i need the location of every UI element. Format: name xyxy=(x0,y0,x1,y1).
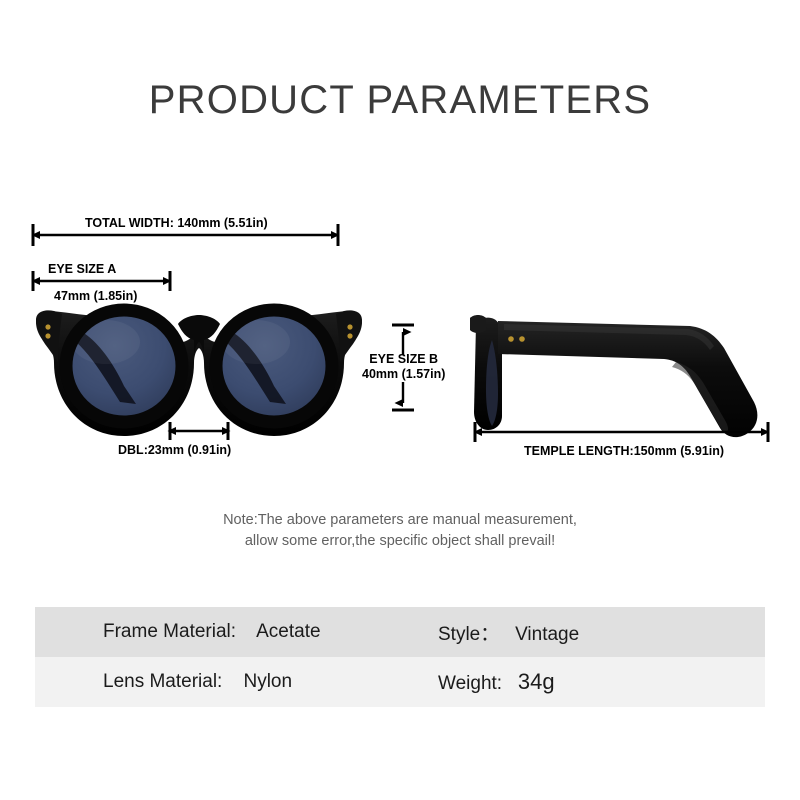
product-parameters-page: PRODUCT PARAMETERS xyxy=(0,0,800,800)
rivet-icon xyxy=(508,336,514,342)
frame-material-key: Frame Material: xyxy=(103,621,236,642)
lens-material-key: Lens Material: xyxy=(103,671,222,692)
measurement-note: Note:The above parameters are manual mea… xyxy=(0,510,800,552)
rivet-icon xyxy=(347,333,352,338)
temple-length-label: TEMPLE LENGTH:150mm (5.91in) xyxy=(524,444,724,458)
table-row: Lens Material: Nylon Weight: 34g xyxy=(35,657,765,707)
rivet-icon xyxy=(347,324,352,329)
style-key: Style： xyxy=(438,624,499,645)
eye-size-b-value: 40mm (1.57in) xyxy=(362,367,445,382)
weight-value: 34g xyxy=(518,669,555,694)
lens-material-cell: Lens Material: Nylon xyxy=(35,657,400,707)
eye-size-a-label: EYE SIZE A xyxy=(48,262,116,276)
eye-size-a-value: 47mm (1.85in) xyxy=(54,289,137,303)
weight-key: Weight: xyxy=(438,673,502,694)
eye-size-b-label: EYE SIZE B xyxy=(362,352,445,367)
rivet-icon xyxy=(45,324,50,329)
style-cell: Style： Vintage xyxy=(400,607,765,657)
rivet-icon xyxy=(519,336,525,342)
page-title: PRODUCT PARAMETERS xyxy=(0,78,800,123)
note-line-2: allow some error,the specific object sha… xyxy=(0,531,800,552)
rivet-icon xyxy=(45,333,50,338)
dbl-label: DBL:23mm (0.91in) xyxy=(118,443,231,457)
sunglasses-side-view xyxy=(470,315,757,437)
specification-table: Frame Material: Acetate Style： Vintage L… xyxy=(35,607,765,707)
table-row: Frame Material: Acetate Style： Vintage xyxy=(35,607,765,657)
frame-material-cell: Frame Material: Acetate xyxy=(35,607,400,657)
frame-material-value: Acetate xyxy=(256,621,320,642)
sunglasses-front-view xyxy=(36,310,362,436)
lens-material-value: Nylon xyxy=(243,671,292,692)
dbl-dimension xyxy=(170,422,228,440)
measurement-diagram: TOTAL WIDTH: 140mm (5.51in) EYE SIZE A 4… xyxy=(0,190,800,490)
style-value: Vintage xyxy=(515,624,579,645)
eye-size-b-label-group: EYE SIZE B 40mm (1.57in) xyxy=(362,352,445,382)
total-width-label: TOTAL WIDTH: 140mm (5.51in) xyxy=(85,216,268,230)
weight-cell: Weight: 34g xyxy=(400,657,765,707)
note-line-1: Note:The above parameters are manual mea… xyxy=(0,510,800,531)
